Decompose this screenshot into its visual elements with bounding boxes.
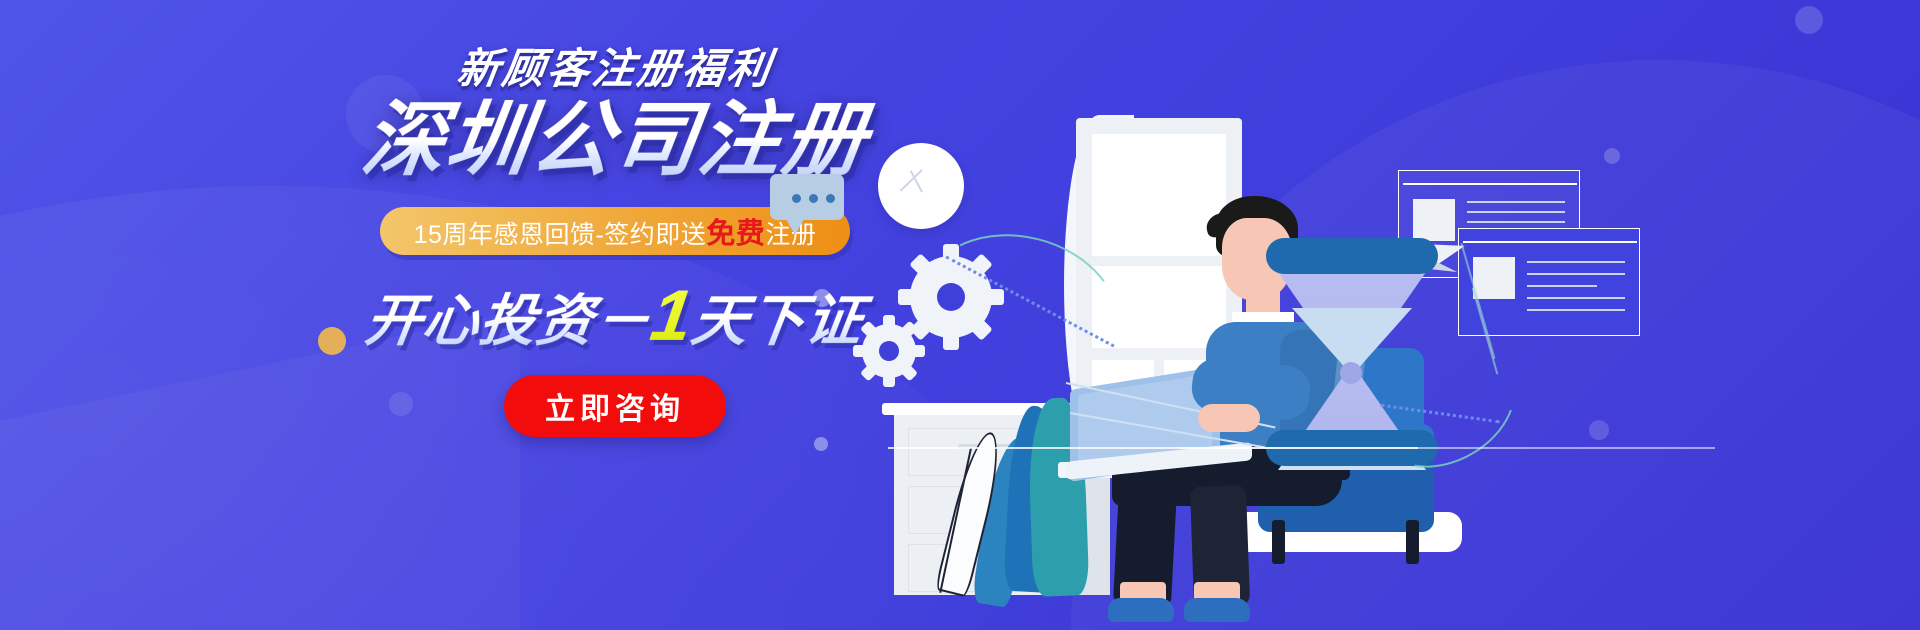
speech-bubble-dot-1 xyxy=(792,194,801,203)
consult-now-button[interactable]: 立即咨询 xyxy=(504,375,726,437)
document-card-front xyxy=(1458,228,1640,336)
speech-bubble-dot-2 xyxy=(809,194,818,203)
badge-highlight-text: 免费 xyxy=(706,218,765,250)
subheadline-lead: 开心投资－ xyxy=(362,289,656,352)
badge-lead-text: 15周年感恩回馈-签约即送 xyxy=(414,221,707,249)
person-shoe-front xyxy=(1184,598,1250,622)
page-title: 深圳公司注册 xyxy=(294,98,936,185)
promo-banner: 新顾客注册福利 深圳公司注册 15周年感恩回馈-签约即送免费注册 开心投资－1天… xyxy=(0,0,1920,630)
subheadline: 开心投资－1天下证 xyxy=(295,279,936,355)
floor-line-right xyxy=(1180,447,1715,449)
subheadline-trail: 天下证 xyxy=(688,289,868,352)
hourglass-top-cap xyxy=(1266,238,1438,274)
wall-clock-icon xyxy=(878,143,964,229)
decor-dot-under-subline xyxy=(814,437,828,451)
armchair-leg-1 xyxy=(1272,520,1285,564)
person-hand xyxy=(1198,404,1260,432)
promo-copy-block: 新顾客注册福利 深圳公司注册 15周年感恩回馈-签约即送免费注册 开心投资－1天… xyxy=(300,46,930,437)
badge-text: 15周年感恩回馈-签约即送免费注册 xyxy=(414,210,817,252)
speech-bubble-dot-3 xyxy=(826,194,835,203)
hero-illustration xyxy=(880,0,1920,630)
person-shoe-back xyxy=(1108,598,1174,622)
armchair-leg-2 xyxy=(1406,520,1419,564)
consult-now-button-label: 立即咨询 xyxy=(545,384,685,428)
kicker-text: 新顾客注册福利 xyxy=(297,46,933,92)
gear-small-icon xyxy=(858,320,920,382)
window-pane-1 xyxy=(1092,134,1226,256)
hourglass-neck xyxy=(1340,362,1362,384)
